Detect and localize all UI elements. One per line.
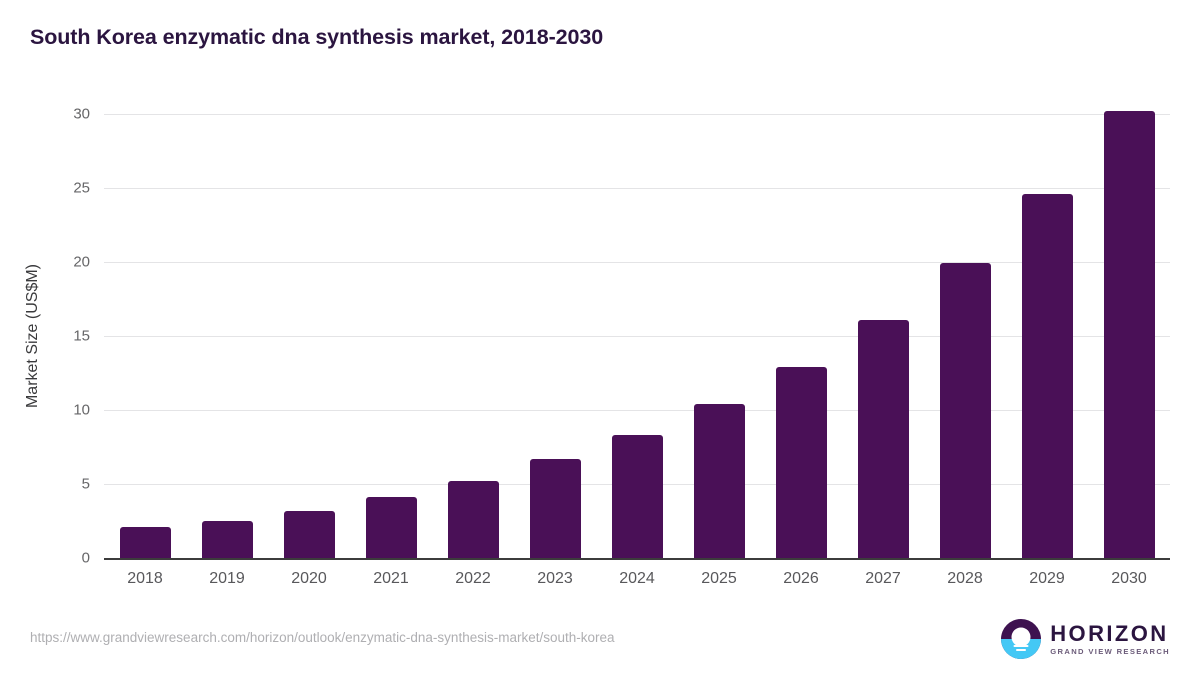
x-tick-label: 2030 (1088, 568, 1170, 590)
gridline (104, 188, 1170, 189)
x-tick-label: 2022 (432, 568, 514, 590)
plot-area (104, 114, 1170, 558)
x-tick-label: 2029 (1006, 568, 1088, 590)
chart-page: South Korea enzymatic dna synthesis mark… (0, 0, 1200, 675)
x-tick-label: 2025 (678, 568, 760, 590)
y-axis-ticks: 051015202530 (44, 0, 90, 675)
gridline (104, 114, 1170, 115)
horizon-logo-text: HORIZON GRAND VIEW RESEARCH (1050, 622, 1170, 656)
x-tick-label: 2018 (104, 568, 186, 590)
bar[interactable] (284, 511, 335, 558)
bar[interactable] (448, 481, 499, 558)
bar[interactable] (940, 263, 991, 558)
source-url[interactable]: https://www.grandviewresearch.com/horizo… (30, 630, 615, 645)
x-tick-label: 2028 (924, 568, 1006, 590)
logo-sun-shape (1012, 627, 1031, 646)
x-axis-line (104, 558, 1170, 560)
bar[interactable] (202, 521, 253, 558)
x-tick-label: 2023 (514, 568, 596, 590)
bar[interactable] (694, 404, 745, 558)
gridline (104, 410, 1170, 411)
horizon-logo-icon (1001, 619, 1041, 659)
bar[interactable] (530, 459, 581, 558)
y-tick-label: 15 (56, 329, 90, 344)
x-tick-label: 2024 (596, 568, 678, 590)
bar[interactable] (366, 497, 417, 558)
bar[interactable] (612, 435, 663, 558)
logo-tagline: GRAND VIEW RESEARCH (1050, 647, 1170, 656)
bar[interactable] (776, 367, 827, 558)
x-tick-label: 2021 (350, 568, 432, 590)
page-title: South Korea enzymatic dna synthesis mark… (30, 25, 603, 50)
horizon-logo[interactable]: HORIZON GRAND VIEW RESEARCH (1001, 617, 1170, 661)
x-tick-label: 2020 (268, 568, 350, 590)
bar[interactable] (120, 527, 171, 558)
logo-ray-upper (1014, 645, 1029, 647)
y-tick-label: 0 (56, 551, 90, 566)
y-tick-label: 5 (56, 477, 90, 492)
logo-ray-lower (1016, 649, 1026, 651)
y-tick-label: 25 (56, 181, 90, 196)
x-tick-label: 2027 (842, 568, 924, 590)
bar[interactable] (858, 320, 909, 558)
x-tick-label: 2019 (186, 568, 268, 590)
bar[interactable] (1104, 111, 1155, 558)
gridline (104, 262, 1170, 263)
y-tick-label: 30 (56, 107, 90, 122)
y-axis-title: Market Size (US$M) (22, 114, 44, 558)
logo-wordmark: HORIZON (1050, 622, 1170, 645)
x-tick-label: 2026 (760, 568, 842, 590)
y-tick-label: 20 (56, 255, 90, 270)
y-tick-label: 10 (56, 403, 90, 418)
bar[interactable] (1022, 194, 1073, 558)
gridline (104, 336, 1170, 337)
